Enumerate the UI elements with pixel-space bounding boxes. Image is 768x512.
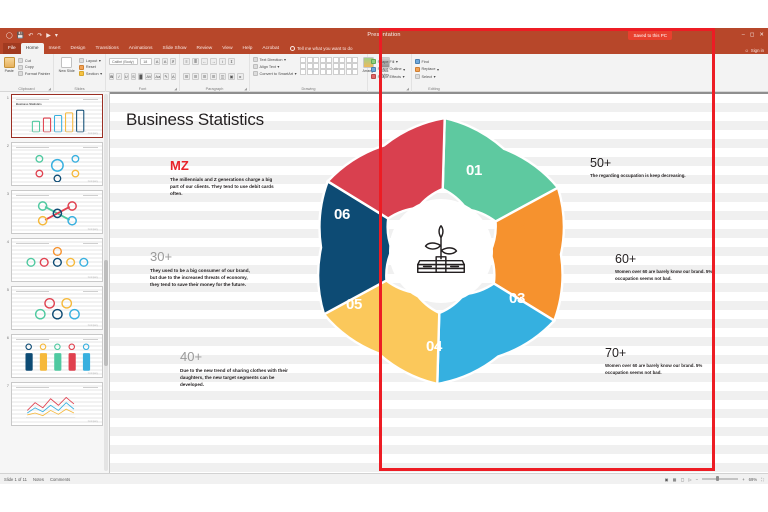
ribbon-group-shape-format: Shape Fill▾ Shape Outline▾ Shape Effects… [368, 54, 412, 92]
fit-slide-to-window-button[interactable]: ⛶ [761, 477, 764, 482]
shapes-scroll-icon[interactable] [352, 63, 358, 69]
powerpoint-window: ◯ 💾 ↶ ↷ ▶ ▾ Presentation Saved to this P… [0, 28, 768, 484]
align-text-icon [253, 64, 258, 69]
zoom-out-button[interactable]: − [696, 477, 698, 482]
text-highlight-button[interactable]: ✎ [163, 73, 168, 80]
thumbnail-slide-1[interactable]: 1 Business Statistics Company [0, 92, 109, 140]
increase-font-size-button[interactable]: A [154, 58, 160, 65]
shape-bracket-icon[interactable] [346, 57, 352, 63]
smartart-convert-button[interactable]: ▣ [228, 73, 235, 80]
increase-indent-button[interactable]: → [210, 58, 217, 65]
ribbon-group-drawing: Text Direction▾ Align Text▾ Convert to S… [250, 54, 368, 92]
donut-infographic[interactable]: 01 02 03 04 05 06 [306, 116, 576, 386]
segment-label-05: 05 [346, 296, 362, 313]
thumbnail-slide-7[interactable]: 7 Company [0, 380, 109, 428]
shape-outline-button[interactable]: Shape Outline▾ [371, 67, 408, 72]
right-block-50-body: The regarding occupation is keep decreas… [590, 173, 710, 180]
tell-me-search[interactable]: Tell me what you want to do [290, 43, 353, 54]
left-block-mz[interactable]: MZ The millennials and Z generations cha… [170, 158, 278, 197]
slide-counter: Slide 1 of 11 [4, 477, 27, 482]
person-icon: ☺ [744, 48, 748, 53]
text-direction-button[interactable]: Text Direction▾ [253, 57, 296, 62]
shape-fill-icon [371, 59, 376, 64]
thumbnail-footer-6: Company [88, 372, 98, 375]
text-shadow-button[interactable]: █ [138, 73, 143, 80]
normal-view-icon[interactable]: ▣ [665, 477, 669, 482]
close-icon[interactable]: ✕ [759, 32, 764, 38]
right-block-60-heading: 60+ [615, 252, 735, 266]
slide-sorter-icon[interactable]: ▦ [673, 477, 677, 482]
strikethrough-button[interactable]: S [131, 73, 136, 80]
ribbon-group-editing: Find Replace▾ Select▾ Editing [412, 54, 456, 92]
paste-label: Paste [5, 69, 14, 73]
shape-heart-icon[interactable] [339, 69, 345, 75]
ribbon-tab-bar[interactable]: File Home Insert Design Transitions Anim… [0, 42, 768, 54]
chevron-down-icon-9: ▾ [437, 67, 439, 72]
line-chart-preview-icon [26, 391, 91, 422]
layout-label: Layout [86, 59, 97, 63]
donut-center-hub [389, 199, 493, 303]
thumbnail-slide-6[interactable]: 6 Compa [0, 332, 109, 380]
thumbnail-number-4: 4 [3, 238, 9, 282]
line-spacing-button[interactable]: ↕ [219, 58, 226, 65]
thumb-header [16, 98, 98, 101]
thumbnail-slide-4[interactable]: 4 Company [0, 236, 109, 284]
start-presentation-icon[interactable]: ▶ [46, 32, 51, 39]
shape-outline-icon [371, 67, 376, 72]
right-block-70-body: Women over 60 are barely know our brand.… [605, 363, 725, 376]
align-left-button[interactable]: ☰ [183, 73, 190, 80]
shape-banner-icon[interactable] [346, 63, 352, 69]
table-row[interactable]: Company [11, 382, 103, 426]
clear-formatting-button[interactable]: ✗ [170, 58, 176, 65]
notes-button[interactable]: Notes [33, 477, 44, 482]
search-icon [415, 59, 420, 64]
tab-acrobat[interactable]: Acrobat [257, 43, 284, 54]
right-block-70[interactable]: 70+ Women over 60 are barely know our br… [605, 346, 725, 376]
thumbnail-number-5: 5 [3, 286, 9, 330]
chevron-down-icon: ▾ [99, 58, 101, 63]
thumbnail-slide-5[interactable]: 5 Company [0, 284, 109, 332]
replace-icon [415, 67, 420, 72]
shape-line-icon[interactable] [313, 57, 319, 63]
shape-rectangle-icon[interactable] [300, 57, 306, 63]
segment-label-06: 06 [334, 206, 350, 223]
paste-button[interactable]: Paste [3, 57, 15, 73]
left-block-40[interactable]: 40+ Due to the new trend of sharing clot… [180, 349, 288, 388]
text-direction-label: Text Direction [260, 58, 283, 62]
select-label: Select [422, 75, 433, 79]
shape-oval-icon[interactable] [333, 57, 339, 63]
shape-cylinder-icon[interactable] [300, 69, 306, 75]
workspace: 1 Business Statistics Company [0, 92, 768, 473]
tab-insert[interactable]: Insert [44, 43, 66, 54]
find-button[interactable]: Find [415, 59, 453, 64]
zoom-in-button[interactable]: + [742, 477, 744, 482]
cut-label: Cut [25, 59, 31, 63]
thumbnail-footer: Company [88, 132, 98, 135]
chevron-down-icon-5: ▾ [295, 71, 297, 76]
italic-button[interactable]: I [116, 73, 121, 80]
format-painter-button[interactable]: Format Painter [18, 71, 50, 76]
tell-me-label: Tell me what you want to do [297, 46, 353, 51]
numbering-button[interactable]: ≣ [192, 58, 199, 65]
shape-chevron-icon[interactable] [333, 63, 339, 69]
bullets-button[interactable]: ≡ [183, 58, 190, 65]
customize-qat-icon[interactable]: ▾ [55, 32, 58, 39]
cut-button[interactable]: Cut [18, 58, 50, 63]
pencil-bars-preview-icon [16, 342, 99, 374]
chevron-down-icon-6: ▾ [396, 59, 398, 64]
reset-button[interactable]: Reset [79, 65, 102, 70]
shape-rounded-icon[interactable] [307, 57, 313, 63]
bar-chart-preview-icon [18, 107, 94, 133]
align-text-label: Align Text [260, 65, 276, 69]
section-label: Section [86, 72, 99, 76]
shape-arrow-icon[interactable] [320, 57, 326, 63]
slide-editing-surface[interactable]: Business Statistics MZ The millennials a… [110, 94, 768, 473]
font-size-input[interactable]: 18 [140, 58, 152, 65]
zoom-level: 69% [749, 477, 757, 482]
thumb-header-5 [16, 290, 98, 293]
left-block-30-heading: 30+ [150, 249, 258, 264]
hub-diagram-preview-icon [16, 149, 99, 182]
shape-dialog-launcher[interactable]: ◢ [406, 87, 409, 91]
lightbulb-icon [290, 46, 295, 51]
change-case-button[interactable]: Aa [154, 73, 161, 80]
shape-connector-icon[interactable] [326, 57, 332, 63]
table-row[interactable]: Company [11, 142, 103, 186]
thumbnail-number: 1 [3, 94, 9, 138]
copy-label: Copy [25, 65, 34, 69]
shape-callout-icon[interactable] [339, 57, 345, 63]
shape-cube-icon[interactable] [307, 69, 313, 75]
align-center-button[interactable]: ☰ [192, 73, 199, 80]
columns-button[interactable]: ◫ [219, 73, 226, 80]
shape-fill-button[interactable]: Shape Fill▾ [371, 59, 408, 64]
window-title: Presentation [367, 32, 400, 38]
font-dialog-launcher[interactable]: ◢ [174, 87, 177, 91]
tab-view[interactable]: View [217, 43, 237, 54]
title-bar: ◯ 💾 ↶ ↷ ▶ ▾ Presentation Saved to this P… [0, 28, 768, 42]
table-row[interactable]: Company [11, 190, 103, 234]
save-status-badge: Saved to this PC [628, 30, 672, 40]
chevron-down-icon-2: ▾ [100, 71, 102, 76]
new-slide-button[interactable]: New Slide [57, 57, 76, 73]
shape-triangle-icon[interactable] [300, 63, 306, 69]
shape-effects-label: Shape Effects [378, 75, 402, 79]
right-block-70-heading: 70+ [605, 346, 725, 360]
status-bar-right: ▣ ▦ ▢ ▷ − + 69% ⛶ [665, 477, 764, 482]
thumbnail-slide-2[interactable]: 2 Company [0, 140, 109, 188]
right-block-60-body: Women over 60 are barely know our brand.… [615, 269, 735, 282]
new-slide-label: New Slide [59, 69, 75, 73]
shape-plaque-icon[interactable] [326, 69, 332, 75]
chevron-down-icon-7: ▾ [403, 67, 405, 72]
tab-help[interactable]: Help [238, 43, 258, 54]
left-block-mz-body: The millennials and Z generations charge… [170, 176, 278, 197]
gear-cluster-preview-icon [16, 294, 99, 325]
page-title: Business Statistics [126, 110, 264, 130]
font-name-input[interactable]: Calibri (Body) [109, 58, 138, 65]
justify-button[interactable]: ☰ [210, 73, 217, 80]
window-controls[interactable]: – ◻ ✕ [742, 28, 764, 42]
thumbnail-footer-5: Company [88, 324, 98, 327]
paintbrush-icon [18, 71, 23, 76]
chevron-down-icon-8: ▾ [403, 74, 405, 79]
redo-icon[interactable]: ↷ [37, 32, 42, 39]
shape-pentagon-icon[interactable] [313, 63, 319, 69]
chevron-down-icon-10: ▾ [434, 74, 436, 79]
thumb-header-7 [16, 386, 98, 389]
bold-button[interactable]: B [109, 73, 114, 80]
reset-icon [79, 65, 84, 70]
section-icon [79, 71, 84, 76]
thumbnail-scrollbar-thumb[interactable] [104, 260, 108, 367]
comments-button[interactable]: Comments [50, 477, 70, 482]
select-button[interactable]: Select▾ [415, 74, 453, 79]
align-text-button[interactable]: Align Text▾ [253, 64, 296, 69]
thumbnail-number-3: 3 [3, 190, 9, 234]
underline-button[interactable]: U [124, 73, 129, 80]
status-bar: Slide 1 of 11 Notes Comments ▣ ▦ ▢ ▷ − +… [0, 473, 768, 484]
new-slide-icon [61, 57, 72, 68]
shapes-gallery[interactable] [300, 57, 358, 75]
autosave-icon[interactable]: ◯ [6, 32, 13, 39]
segment-label-03: 03 [509, 290, 525, 307]
convert-smartart-label: Convert to SmartArt [260, 72, 294, 76]
tab-animations[interactable]: Animations [124, 43, 158, 54]
align-right-button[interactable]: ☰ [201, 73, 208, 80]
shape-can-icon[interactable] [313, 69, 319, 75]
thumbnail-footer-2: Company [88, 180, 98, 183]
pin-row-preview-icon [16, 246, 99, 277]
minimize-icon[interactable]: – [742, 32, 745, 38]
thumbnail-footer-4: Company [88, 276, 98, 279]
text-direction-icon [253, 57, 258, 62]
decrease-font-size-button[interactable]: A [162, 58, 168, 65]
table-row[interactable]: Company [11, 238, 103, 282]
replace-button[interactable]: Replace▾ [415, 67, 453, 72]
shape-moon-icon[interactable] [333, 69, 339, 75]
thumbnail-number-6: 6 [3, 334, 9, 378]
section-button[interactable]: Section▾ [79, 71, 102, 76]
smartart-icon [253, 71, 258, 76]
left-block-30-body: They used to be a big consumer of our br… [150, 267, 258, 288]
thumbnail-slide-3[interactable]: 3 Company [0, 188, 109, 236]
segment-label-04: 04 [426, 338, 442, 355]
zoom-slider-knob[interactable] [716, 476, 719, 481]
undo-icon[interactable]: ↶ [28, 32, 33, 39]
shape-cross-icon[interactable] [320, 69, 326, 75]
plant-growing-from-money-icon [410, 220, 472, 282]
shape-fill-label: Shape Fill [378, 60, 395, 64]
replace-label: Replace [422, 67, 436, 71]
paragraph-dialog-launcher[interactable]: ◢ [244, 87, 247, 91]
tab-review[interactable]: Review [192, 43, 218, 54]
clipboard-dialog-launcher[interactable]: ◢ [48, 87, 51, 91]
paste-icon [4, 57, 15, 68]
table-row[interactable]: Company [11, 286, 103, 330]
chevron-down-icon-4: ▾ [277, 64, 279, 69]
slide-thumbnail-pane[interactable]: 1 Business Statistics Company [0, 92, 110, 473]
paragraph-more-button[interactable]: ▸ [237, 73, 244, 80]
scissors-icon [18, 58, 23, 63]
shapes-more-icon[interactable] [352, 57, 358, 63]
select-icon [415, 74, 420, 79]
shape-effects-button[interactable]: Shape Effects▾ [371, 74, 408, 79]
tab-home[interactable]: Home [21, 43, 44, 54]
left-block-mz-heading: MZ [170, 158, 278, 173]
restore-icon[interactable]: ◻ [750, 32, 755, 38]
tab-transitions[interactable]: Transitions [90, 43, 123, 54]
find-label: Find [422, 60, 429, 64]
save-icon[interactable]: 💾 [17, 32, 24, 39]
shapes-expand-icon[interactable] [352, 69, 358, 75]
thumbnail-footer-7: Company [88, 420, 98, 423]
tab-file[interactable]: File [3, 43, 21, 54]
shape-outline-label: Shape Outline [378, 67, 402, 71]
zoom-slider[interactable] [702, 478, 738, 479]
layout-icon [79, 58, 84, 63]
shape-curve-icon[interactable] [320, 63, 326, 69]
segment-label-01: 01 [466, 162, 482, 179]
thumb-header-6 [16, 338, 98, 341]
text-direction-top-button[interactable]: ⇕ [228, 58, 235, 65]
reset-label: Reset [86, 65, 96, 69]
shape-freeform-icon[interactable] [326, 63, 332, 69]
copy-icon [18, 65, 23, 70]
right-block-50[interactable]: 50+ The regarding occupation is keep dec… [590, 156, 710, 180]
layout-button[interactable]: Layout▾ [79, 58, 102, 63]
convert-smartart-button[interactable]: Convert to SmartArt▾ [253, 71, 296, 76]
thumbnail-footer-3: Company [88, 228, 98, 231]
quick-access-toolbar[interactable]: ◯ 💾 ↶ ↷ ▶ ▾ [6, 28, 58, 42]
copy-button[interactable]: Copy [18, 65, 50, 70]
right-block-50-heading: 50+ [590, 156, 710, 170]
sign-in-label: Sign in [751, 48, 764, 53]
shape-star-icon[interactable] [339, 63, 345, 69]
table-row[interactable]: Business Statistics Company [11, 94, 103, 138]
format-painter-label: Format Painter [25, 72, 50, 76]
character-spacing-button[interactable]: AV [145, 73, 152, 80]
cross-diagram-preview-icon [16, 197, 99, 230]
thumbnail-title: Business Statistics [16, 102, 42, 106]
slideshow-icon[interactable]: ▷ [689, 477, 692, 482]
segment-label-02: 02 [509, 217, 525, 234]
left-block-30[interactable]: 30+ They used to be a big consumer of ou… [150, 249, 258, 288]
tab-slide-show[interactable]: Slide Show [158, 43, 192, 54]
font-color-button[interactable]: A [171, 73, 176, 80]
thumbnail-number-2: 2 [3, 142, 9, 186]
left-block-40-body: Due to the new trend of sharing clothes … [180, 367, 288, 388]
ribbon-group-clipboard: Paste Cut Copy Format Painter Clipboard … [0, 54, 54, 92]
shape-lightning-icon[interactable] [346, 69, 352, 75]
right-block-60[interactable]: 60+ Women over 60 are barely know our br… [615, 252, 735, 282]
tab-design[interactable]: Design [66, 43, 91, 54]
ribbon-group-paragraph: ≡ ≣ ← → ↕ ⇕ ☰ ☰ ☰ ☰ ◫ ▣ ▸ Paragraph ◢ [180, 54, 250, 92]
reading-view-icon[interactable]: ▢ [681, 477, 685, 482]
chevron-down-icon-3: ▾ [284, 57, 286, 62]
shape-diamond-icon[interactable] [307, 63, 313, 69]
thumb-header-4 [16, 242, 98, 245]
sign-in-link[interactable]: ☺ Sign in [744, 48, 764, 53]
ribbon-home: Paste Cut Copy Format Painter Clipboard … [0, 54, 768, 92]
left-block-40-heading: 40+ [180, 349, 288, 364]
ribbon-group-slides: New Slide Layout▾ Reset Section▾ Slides [54, 54, 106, 92]
ribbon-group-font: Calibri (Body) 18 A A ✗ B I U S █ AV Aa … [106, 54, 180, 92]
thumbnail-number-7: 7 [3, 382, 9, 426]
table-row[interactable]: Company [11, 334, 103, 378]
shape-effects-icon [371, 74, 376, 79]
slide-canvas-pane[interactable]: Business Statistics MZ The millennials a… [110, 92, 768, 473]
decrease-indent-button[interactable]: ← [201, 58, 208, 65]
